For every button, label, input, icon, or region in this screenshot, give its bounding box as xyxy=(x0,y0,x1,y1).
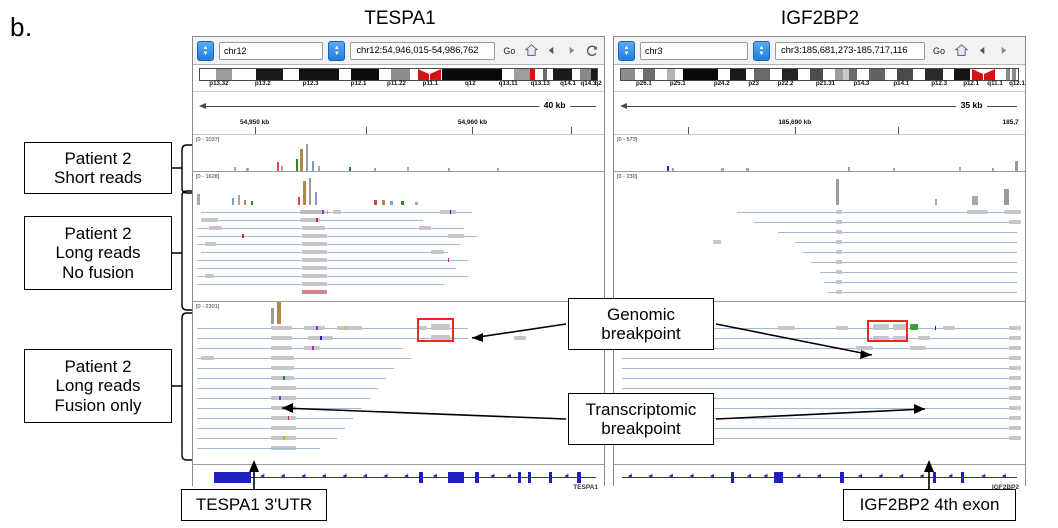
locus-input-right[interactable]: chr3:185,681,273-185,717,116 xyxy=(775,42,925,60)
track-short-read-coverage-right[interactable]: [0 - 573] xyxy=(614,135,1025,172)
gene-name-left: TESPA1 xyxy=(573,484,598,491)
track-long-read-nofusion-right[interactable]: [0 - 230] xyxy=(614,172,1025,302)
row-label-line-1: Long reads xyxy=(55,376,142,395)
go-button-right[interactable]: Go xyxy=(930,46,948,56)
locus-stepper-icon-left[interactable]: ▲▼ xyxy=(328,41,345,61)
track-long-read-fusion-left[interactable]: [0 - 2301] xyxy=(193,302,604,464)
ideogram-band-labels-left: p13.32 p13.2 p12.3 p12.1 p11.22 p11.1 q1… xyxy=(199,80,598,90)
callout-line-1: breakpoint xyxy=(601,324,680,343)
locus-stepper-icon-right[interactable]: ▲▼ xyxy=(753,41,770,61)
refresh-icon-left[interactable] xyxy=(585,42,600,59)
tick-label-right-3: 185,7 xyxy=(1002,119,1018,126)
ideogram-right[interactable]: p26.1 p25.1 p24.2 p23 p22.2 p21.31 p14.3… xyxy=(614,65,1025,92)
back-arrow-icon-right[interactable] xyxy=(974,42,990,59)
gene-title-igf2bp2: IGF2BP2 xyxy=(630,8,1010,30)
row-label-line-2: Fusion only xyxy=(55,396,142,415)
track-long-read-nofusion-left[interactable]: [0 - 1628] xyxy=(193,172,604,302)
bottom-label-text: IGF2BP2 4th exon xyxy=(860,495,1000,514)
tick-label-left-0: 54,950 kb xyxy=(240,119,269,126)
range-label-left-2: [0 - 2301] xyxy=(196,304,219,310)
range-label-left-1: [0 - 1628] xyxy=(196,174,219,180)
igv-toolbar-right[interactable]: ▲▼ chr3 ▲▼ chr3:185,681,273-185,717,116 … xyxy=(614,37,1025,65)
row-label-patient2-long-reads-fusion-only: Patient 2 Long reads Fusion only xyxy=(24,349,172,423)
row-label-line-2: No fusion xyxy=(55,263,140,282)
genome-select-left[interactable]: chr12 xyxy=(219,42,323,60)
bottom-label-igf2bp2-4th-exon: IGF2BP2 4th exon xyxy=(843,489,1016,521)
tick-label-right-1: 185,690 kb xyxy=(778,119,811,126)
callout-transcriptomic-breakpoint: Transcriptomic breakpoint xyxy=(568,393,714,445)
ruler-right: 35 kb 185,690 kb 185,7 xyxy=(614,92,1025,135)
locus-input-left[interactable]: chr12:54,946,015-54,986,762 xyxy=(350,42,495,60)
row-label-line-0: Patient 2 xyxy=(54,149,142,168)
ideogram-band-labels-right: p26.1 p25.1 p24.2 p23 p22.2 p21.31 p14.3… xyxy=(620,80,1019,90)
callout-genomic-breakpoint: Genomic breakpoint xyxy=(568,298,714,350)
panel-letter: b. xyxy=(10,12,33,43)
span-label-right: 35 kb xyxy=(956,100,988,110)
range-label-right-0: [0 - 573] xyxy=(617,137,637,143)
gene-track-right[interactable]: ◄ ◄ ◄ ◄ ◄ ◄ ◄ ◄ ◄ ◄ ◄ ◄ ◄ ◄ ◄ ◄ IGF2BP2 xyxy=(614,464,1025,491)
range-label-left-0: [0 - 1037] xyxy=(196,137,219,143)
row-label-line-1: Short reads xyxy=(54,168,142,187)
row-label-patient2-short-reads: Patient 2 Short reads xyxy=(24,142,172,194)
ruler-left: 40 kb 54,950 kb 54,960 kb xyxy=(193,92,604,135)
ideogram-left[interactable]: p13.32 p13.2 p12.3 p12.1 p11.22 p11.1 q1… xyxy=(193,65,604,92)
go-button-left[interactable]: Go xyxy=(500,46,518,56)
range-label-right-1: [0 - 230] xyxy=(617,174,637,180)
igv-panel-tespa1[interactable]: ▲▼ chr12 ▲▼ chr12:54,946,015-54,986,762 … xyxy=(192,36,605,486)
row-label-line-0: Patient 2 xyxy=(55,357,142,376)
row-label-patient2-long-reads-no-fusion: Patient 2 Long reads No fusion xyxy=(24,216,172,290)
track-short-read-coverage-left[interactable]: [0 - 1037] xyxy=(193,135,604,172)
home-icon-right[interactable] xyxy=(953,42,969,59)
bottom-label-text: TESPA1 3'UTR xyxy=(196,495,312,514)
genomic-breakpoint-highlight-left xyxy=(417,318,454,342)
genome-stepper-icon-right[interactable]: ▲▼ xyxy=(618,41,635,61)
callout-line-1: breakpoint xyxy=(586,419,697,438)
genome-stepper-icon-left[interactable]: ▲▼ xyxy=(197,41,214,61)
forward-arrow-icon-left[interactable] xyxy=(564,42,579,59)
bottom-label-tespa1-3utr: TESPA1 3'UTR xyxy=(181,489,327,521)
row-label-line-1: Long reads xyxy=(55,243,140,262)
row-label-line-0: Patient 2 xyxy=(55,224,140,243)
gene-track-left[interactable]: ◄ ◄ ◄ ◄ ◄ ◄ ◄ ◄ ◄ ◄ ◄ ◄ TESPA1 xyxy=(193,464,604,491)
gene-title-tespa1: TESPA1 xyxy=(210,8,590,30)
callout-line-0: Transcriptomic xyxy=(586,400,697,419)
span-label-left: 40 kb xyxy=(539,100,571,110)
home-icon-left[interactable] xyxy=(523,42,538,59)
igv-toolbar-left[interactable]: ▲▼ chr12 ▲▼ chr12:54,946,015-54,986,762 … xyxy=(193,37,604,65)
back-arrow-icon-left[interactable] xyxy=(544,42,559,59)
forward-arrow-icon-right[interactable] xyxy=(995,42,1011,59)
genome-select-right[interactable]: chr3 xyxy=(640,42,748,60)
tick-label-left-2: 54,960 kb xyxy=(458,119,487,126)
genomic-breakpoint-highlight-right xyxy=(867,320,908,342)
callout-line-0: Genomic xyxy=(601,305,680,324)
